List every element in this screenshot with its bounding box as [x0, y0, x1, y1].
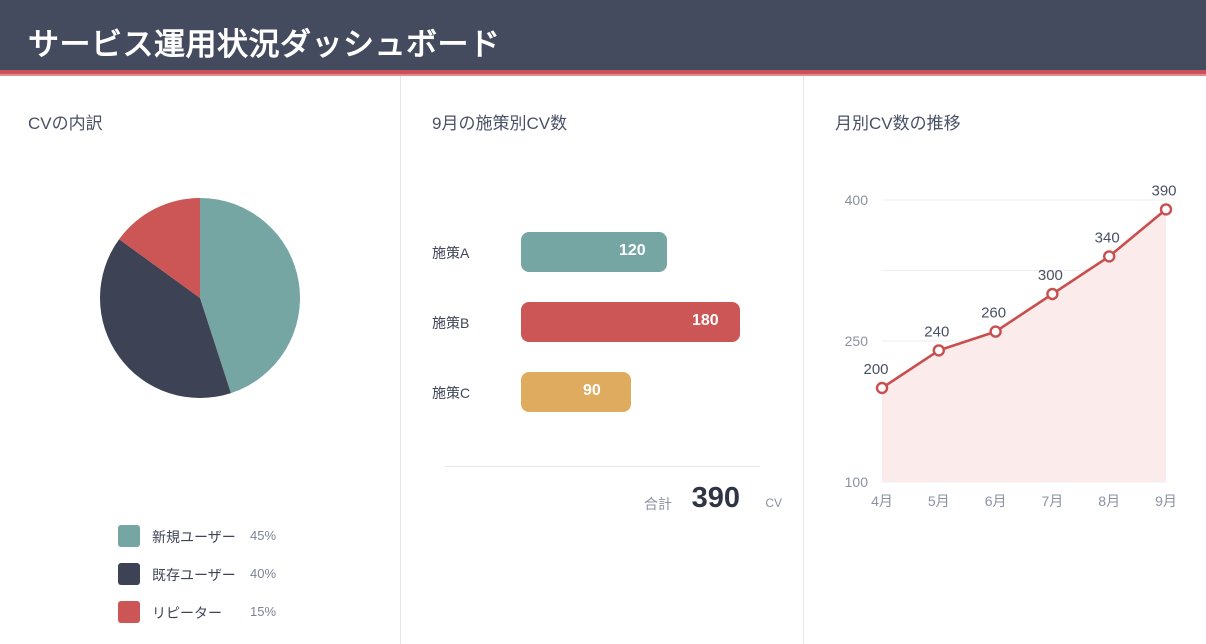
y-axis-tick-label: 100 [845, 474, 869, 490]
panel-title-cv-breakdown: CVの内訳 [28, 109, 103, 134]
legend-item-value: 15% [250, 604, 276, 619]
panel-monthly-trend: 月別CV数の推移 200240260300340390 400250100 4月… [804, 76, 1206, 644]
legend-item-value: 40% [250, 566, 276, 581]
legend-item: リピーター 15% [118, 593, 338, 631]
bar-row-label: 施策B [432, 313, 469, 333]
data-point-label: 300 [1038, 267, 1063, 284]
pie-chart [98, 196, 302, 400]
bar-fill [521, 372, 631, 412]
total-label: 合計 [644, 494, 672, 514]
dashboard-header: サービス運用状況ダッシュボード [0, 0, 1206, 70]
bar-track: 90 [521, 372, 771, 412]
legend-item-label: リピーター [152, 603, 222, 623]
legend-item-value: 45% [250, 528, 276, 543]
bar-row-label: 施策C [432, 383, 470, 403]
y-axis-labels: 400250100 [845, 192, 869, 490]
x-axis-tick-label: 5月 [928, 493, 950, 509]
line-chart: 200240260300340390 400250100 4月5月6月7月8月9… [804, 172, 1206, 532]
data-point [1161, 204, 1171, 214]
panel-cv-breakdown: CVの内訳 新規ユーザー 45% 既存ユーザー 40% リピーター 15% [0, 76, 400, 644]
bar-track: 180 [521, 302, 771, 342]
legend-item: 既存ユーザー 40% [118, 555, 338, 593]
panel-title-monthly-trend: 月別CV数の推移 [835, 109, 961, 134]
total-row: 合計 390 CV [432, 478, 782, 524]
x-axis-labels: 4月5月6月7月8月9月 [871, 493, 1177, 509]
legend-swatch-icon [118, 563, 140, 585]
legend-item-label: 新規ユーザー [152, 527, 236, 547]
area-fill-path [882, 209, 1166, 482]
area-fill [882, 209, 1166, 482]
bar-value-label: 90 [583, 382, 601, 400]
legend-item-label: 既存ユーザー [152, 565, 236, 585]
data-point [991, 327, 1001, 337]
total-divider [445, 466, 760, 467]
bar-value-label: 120 [619, 242, 646, 260]
x-axis-tick-label: 8月 [1098, 493, 1120, 509]
legend-swatch-icon [118, 525, 140, 547]
data-point-label: 200 [863, 361, 888, 378]
data-point [877, 383, 887, 393]
bar-row: 施策B 180 [401, 302, 803, 342]
total-unit: CV [765, 496, 782, 510]
panel-title-measure-cv: 9月の施策別CV数 [432, 109, 567, 134]
legend-item: 新規ユーザー 45% [118, 517, 338, 555]
data-point [1047, 289, 1057, 299]
data-point-label: 240 [924, 323, 949, 340]
x-axis-tick-label: 6月 [985, 493, 1007, 509]
data-point-label: 390 [1151, 182, 1176, 199]
y-axis-tick-label: 250 [845, 333, 869, 349]
legend-swatch-icon [118, 601, 140, 623]
bar-row-label: 施策A [432, 243, 469, 263]
x-axis-tick-label: 7月 [1042, 493, 1064, 509]
data-point-label: 260 [981, 305, 1006, 322]
bar-row: 施策A 120 [401, 232, 803, 272]
dashboard-root: サービス運用状況ダッシュボード CVの内訳 新規ユーザー 45% 既存ユーザー … [0, 0, 1206, 644]
line-chart-svg: 200240260300340390 400250100 4月5月6月7月8月9… [804, 172, 1206, 532]
bar-track: 120 [521, 232, 771, 272]
bar-row: 施策C 90 [401, 372, 803, 412]
panel-measure-cv: 9月の施策別CV数 施策A 120 施策B 180 施策C 90 合計 [401, 76, 803, 644]
pie-legend: 新規ユーザー 45% 既存ユーザー 40% リピーター 15% [118, 517, 338, 631]
pie-chart-svg [98, 196, 302, 400]
data-point [934, 345, 944, 355]
total-value: 390 [692, 482, 740, 515]
page-title: サービス運用状況ダッシュボード [28, 19, 501, 64]
x-axis-tick-label: 4月 [871, 493, 893, 509]
x-axis-tick-label: 9月 [1155, 493, 1177, 509]
y-axis-tick-label: 400 [845, 192, 869, 208]
bar-value-label: 180 [692, 312, 719, 330]
data-point [1104, 251, 1114, 261]
data-point-label: 340 [1095, 229, 1120, 246]
